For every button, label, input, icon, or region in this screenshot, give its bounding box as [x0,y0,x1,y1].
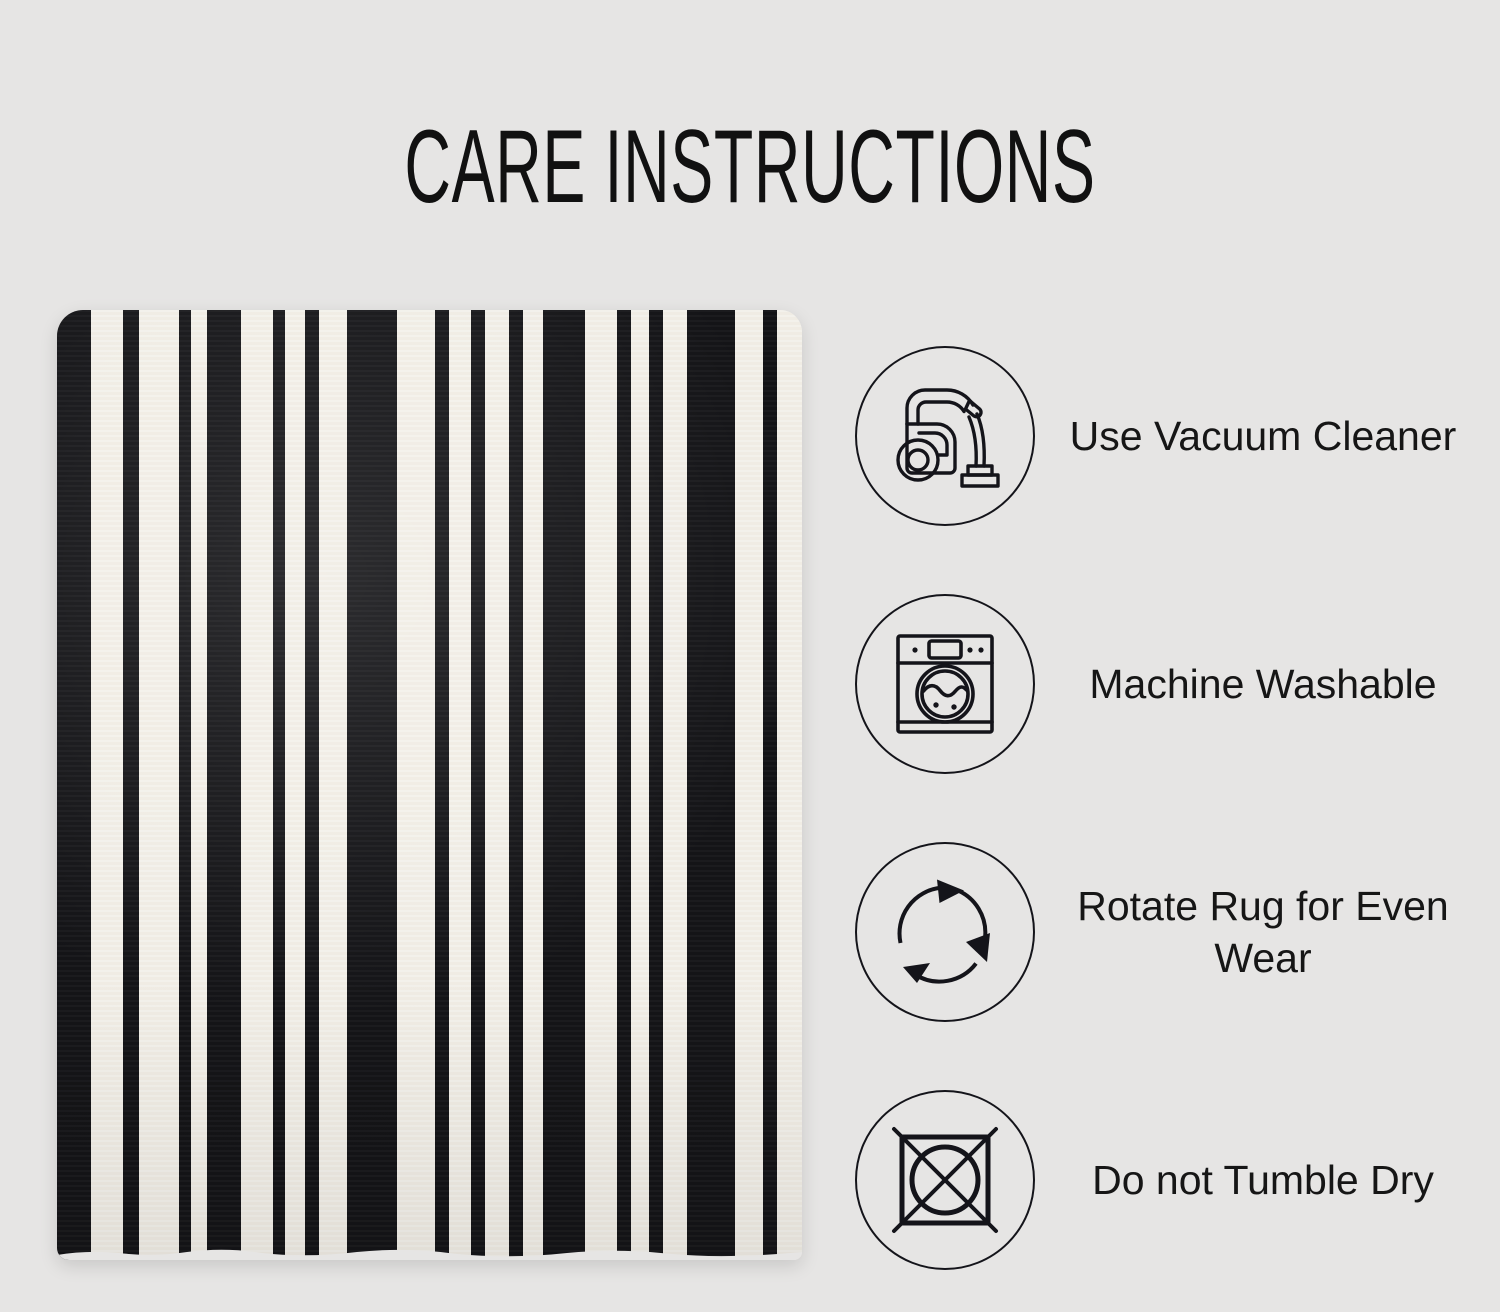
rotate-arrows-icon [884,871,1006,993]
rug-weave-texture [57,310,802,1260]
rotate-arrows-icon-badge [855,842,1035,1022]
vacuum-cleaner-icon-badge [855,346,1035,526]
instruction-row-vacuum: Use Vacuum Cleaner [855,312,1475,560]
instruction-list: Use Vacuum Cleaner [855,312,1475,1304]
product-image-wrap [57,310,802,1260]
instruction-row-machine-wash: Machine Washable [855,560,1475,808]
no-tumble-dry-icon-badge [855,1090,1035,1270]
washing-machine-icon [885,624,1005,744]
vacuum-cleaner-icon [885,376,1005,496]
instruction-label-machine-wash: Machine Washable [1065,658,1475,710]
folded-striped-rug [57,310,802,1260]
washing-machine-icon-badge [855,594,1035,774]
instruction-row-rotate: Rotate Rug for Even Wear [855,808,1475,1056]
no-tumble-dry-icon [886,1121,1004,1239]
instruction-label-rotate: Rotate Rug for Even Wear [1065,880,1475,985]
care-instructions-page: CARE INSTRUCTIONS [0,0,1500,1312]
page-title: CARE INSTRUCTIONS [285,112,1215,222]
instruction-label-vacuum: Use Vacuum Cleaner [1065,410,1475,462]
instruction-row-no-tumble-dry: Do not Tumble Dry [855,1056,1475,1304]
instruction-label-no-tumble-dry: Do not Tumble Dry [1065,1154,1475,1206]
